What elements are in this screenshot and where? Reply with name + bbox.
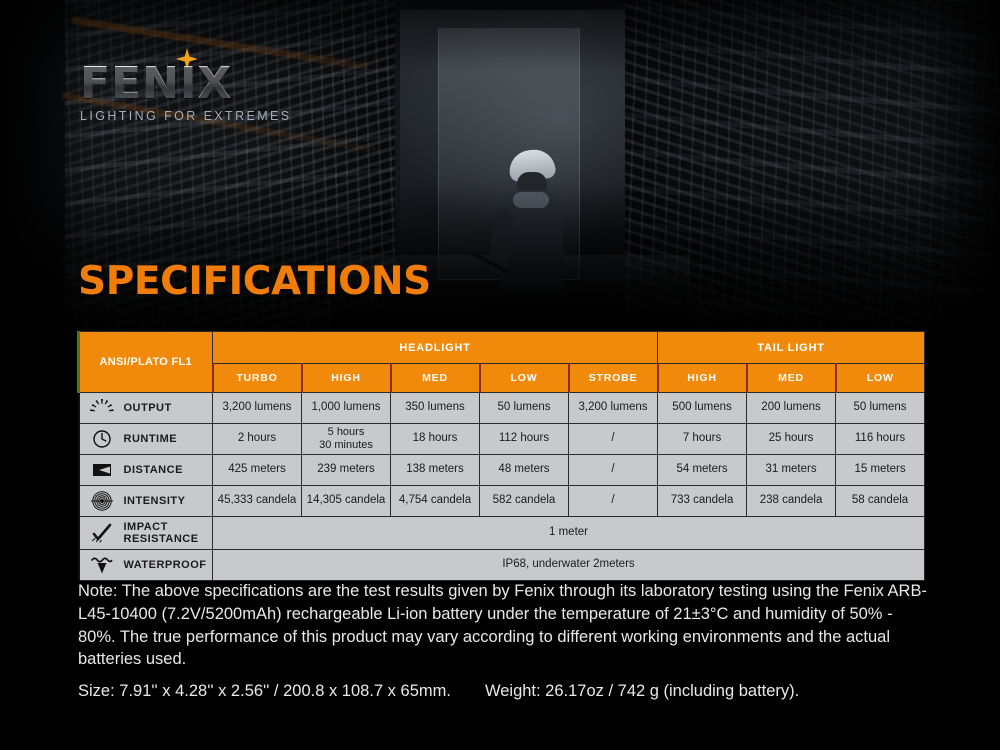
- column-header-headlight-high: HIGH: [302, 364, 391, 393]
- row-label-waterproof: WATERPROOF: [79, 550, 213, 581]
- row-label-distance: DISTANCE: [79, 455, 213, 486]
- table-row: WATERPROOF IP68, underwater 2meters: [79, 550, 925, 581]
- cell-runtime-headlight-med: 18 hours: [391, 424, 480, 455]
- size-text: Size: 7.91'' x 4.28'' x 2.56'' / 200.8 x…: [78, 682, 451, 700]
- specifications-page: FENIX LIGHTING FOR EXTREMES SPECIFICATIO…: [0, 0, 1000, 750]
- table-group-header-row: ANSI/PLATO FL1 HEADLIGHT TAIL LIGHT: [79, 332, 925, 364]
- cell-distance-taillight-high: 54 meters: [658, 455, 747, 486]
- column-header-headlight-strobe: STROBE: [569, 364, 658, 393]
- cell-runtime-headlight-strobe: /: [569, 424, 658, 455]
- row-label-text: DISTANCE: [124, 464, 183, 476]
- cell-output-headlight-high: 1,000 lumens: [302, 393, 391, 424]
- cell-runtime-headlight-high: 5 hours30 minutes: [302, 424, 391, 455]
- table-row: RUNTIME 2 hours 5 hours30 minutes 18 hou…: [79, 424, 925, 455]
- cell-intensity-headlight-strobe: /: [569, 486, 658, 517]
- row-label-output: OUTPUT: [79, 393, 213, 424]
- group-header-tail-light: TAIL LIGHT: [658, 332, 925, 364]
- column-header-taillight-med: MED: [747, 364, 836, 393]
- table-body: OUTPUT 3,200 lumens 1,000 lumens 350 lum…: [79, 393, 925, 581]
- cell-intensity-headlight-low: 582 candela: [480, 486, 569, 517]
- cell-distance-headlight-strobe: /: [569, 455, 658, 486]
- row-label-text: WATERPROOF: [124, 559, 207, 571]
- cell-runtime-taillight-high: 7 hours: [658, 424, 747, 455]
- size-weight-line: Size: 7.91'' x 4.28'' x 2.56'' / 200.8 x…: [78, 682, 799, 701]
- column-header-headlight-turbo: TURBO: [213, 364, 302, 393]
- cell-runtime-taillight-low: 116 hours: [836, 424, 925, 455]
- cell-runtime-headlight-low: 112 hours: [480, 424, 569, 455]
- cell-output-taillight-low: 50 lumens: [836, 393, 925, 424]
- column-header-taillight-low: LOW: [836, 364, 925, 393]
- brand-tagline: LIGHTING FOR EXTREMES: [80, 109, 292, 123]
- cell-line-1: 5 hours: [328, 426, 365, 438]
- row-label-runtime: RUNTIME: [79, 424, 213, 455]
- cell-distance-taillight-med: 31 meters: [747, 455, 836, 486]
- table-row: INTENSITY 45,333 candela 14,305 candela …: [79, 486, 925, 517]
- impact-resistance-icon: [89, 522, 115, 544]
- cell-intensity-taillight-high: 733 candela: [658, 486, 747, 517]
- label-line-2: RESISTANCE: [124, 533, 199, 545]
- table-row: DISTANCE 425 meters 239 meters 138 meter…: [79, 455, 925, 486]
- cell-output-headlight-strobe: 3,200 lumens: [569, 393, 658, 424]
- cell-distance-headlight-med: 138 meters: [391, 455, 480, 486]
- cell-output-taillight-med: 200 lumens: [747, 393, 836, 424]
- weight-text: Weight: 26.17oz / 742 g (including batte…: [485, 682, 799, 700]
- row-label-text: OUTPUT: [124, 402, 172, 414]
- cell-intensity-headlight-high: 14,305 candela: [302, 486, 391, 517]
- group-header-headlight: HEADLIGHT: [213, 332, 658, 364]
- cell-waterproof-value: IP68, underwater 2meters: [213, 550, 925, 581]
- table-row: IMPACTRESISTANCE 1 meter: [79, 517, 925, 550]
- specifications-table: ANSI/PLATO FL1 HEADLIGHT TAIL LIGHT TURB…: [77, 331, 925, 581]
- cell-impact-resistance-value: 1 meter: [213, 517, 925, 550]
- row-label-impact-resistance: IMPACTRESISTANCE: [79, 517, 213, 550]
- column-header-headlight-low: LOW: [480, 364, 569, 393]
- cell-line-2: 30 minutes: [319, 439, 373, 451]
- cell-intensity-taillight-med: 238 candela: [747, 486, 836, 517]
- row-label-text: INTENSITY: [124, 495, 186, 507]
- corner-header-ansi-plato: ANSI/PLATO FL1: [79, 332, 213, 393]
- table-row: OUTPUT 3,200 lumens 1,000 lumens 350 lum…: [79, 393, 925, 424]
- cell-output-headlight-med: 350 lumens: [391, 393, 480, 424]
- specifications-note: Note: The above specifications are the t…: [78, 580, 928, 671]
- light-output-icon: [89, 397, 115, 419]
- fenix-logo: FENIX LIGHTING FOR EXTREMES: [80, 62, 292, 123]
- cell-output-headlight-turbo: 3,200 lumens: [213, 393, 302, 424]
- specifications-table-wrap: ANSI/PLATO FL1 HEADLIGHT TAIL LIGHT TURB…: [77, 331, 923, 581]
- table-head: ANSI/PLATO FL1 HEADLIGHT TAIL LIGHT TURB…: [79, 332, 925, 393]
- cell-output-taillight-high: 500 lumens: [658, 393, 747, 424]
- waterproof-icon: [89, 554, 115, 576]
- cell-intensity-headlight-turbo: 45,333 candela: [213, 486, 302, 517]
- cell-intensity-taillight-low: 58 candela: [836, 486, 925, 517]
- column-header-taillight-high: HIGH: [658, 364, 747, 393]
- cell-distance-headlight-low: 48 meters: [480, 455, 569, 486]
- cell-distance-headlight-high: 239 meters: [302, 455, 391, 486]
- row-label-intensity: INTENSITY: [79, 486, 213, 517]
- clock-icon: [89, 428, 115, 450]
- label-line-1: IMPACT: [124, 521, 168, 533]
- cell-runtime-taillight-med: 25 hours: [747, 424, 836, 455]
- beam-distance-icon: [89, 459, 115, 481]
- page-title: SPECIFICATIONS: [78, 262, 431, 301]
- cell-output-headlight-low: 50 lumens: [480, 393, 569, 424]
- cell-distance-headlight-turbo: 425 meters: [213, 455, 302, 486]
- row-label-text: IMPACTRESISTANCE: [124, 521, 199, 546]
- cell-distance-taillight-low: 15 meters: [836, 455, 925, 486]
- intensity-target-icon: [89, 490, 115, 512]
- row-label-text: RUNTIME: [124, 433, 178, 445]
- cell-intensity-headlight-med: 4,754 candela: [391, 486, 480, 517]
- column-header-headlight-med: MED: [391, 364, 480, 393]
- cell-runtime-headlight-turbo: 2 hours: [213, 424, 302, 455]
- brand-name: FENIX: [80, 62, 292, 106]
